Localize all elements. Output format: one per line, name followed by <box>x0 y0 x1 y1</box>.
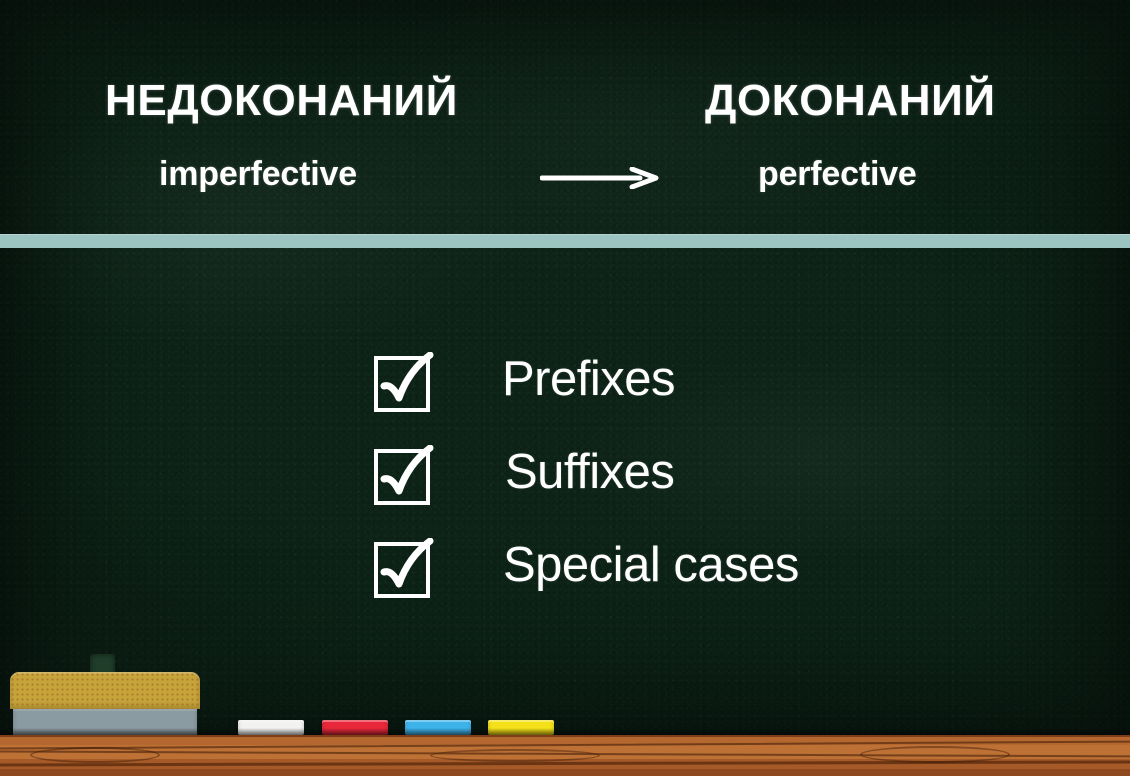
checkbox-checked-icon[interactable] <box>372 445 434 507</box>
list-item-label: Suffixes <box>505 437 674 507</box>
list-item-label: Special cases <box>503 530 799 600</box>
imperfective-subtitle: imperfective <box>159 152 357 196</box>
chalk-eraser-icon[interactable] <box>10 672 200 735</box>
checkbox-checked-icon[interactable] <box>372 538 434 600</box>
list-item[interactable]: Prefixes <box>372 348 892 441</box>
chalk-blue[interactable] <box>405 720 471 735</box>
eraser-texture <box>10 672 200 709</box>
chalkboard-slide: НЕДОКОНАНИЙ ДОКОНАНИЙ imperfective perfe… <box>0 0 1130 776</box>
wooden-chalk-ledge <box>0 735 1130 776</box>
chalk-yellow[interactable] <box>488 720 554 735</box>
checkbox-checked-icon[interactable] <box>372 352 434 414</box>
wood-knot <box>430 749 600 762</box>
eraser-felt-pad <box>13 709 197 735</box>
perfective-title: ДОКОНАНИЙ <box>705 72 996 130</box>
aspect-header-row: НЕДОКОНАНИЙ ДОКОНАНИЙ <box>0 72 1130 130</box>
eraser-wood-top <box>10 672 200 709</box>
list-item[interactable]: Special cases <box>372 534 892 627</box>
arrow-right-icon <box>540 167 660 189</box>
header-divider <box>0 234 1130 248</box>
perfective-subtitle: perfective <box>758 152 917 196</box>
list-item[interactable]: Suffixes <box>372 441 892 534</box>
wood-knot <box>30 747 160 763</box>
chalk-white[interactable] <box>238 720 304 735</box>
list-item-label: Prefixes <box>502 344 675 414</box>
wood-knot <box>860 746 1010 763</box>
chalk-red[interactable] <box>322 720 388 735</box>
imperfective-title: НЕДОКОНАНИЙ <box>105 72 458 130</box>
topic-checklist: Prefixes Suffixes Special cases <box>372 348 892 627</box>
